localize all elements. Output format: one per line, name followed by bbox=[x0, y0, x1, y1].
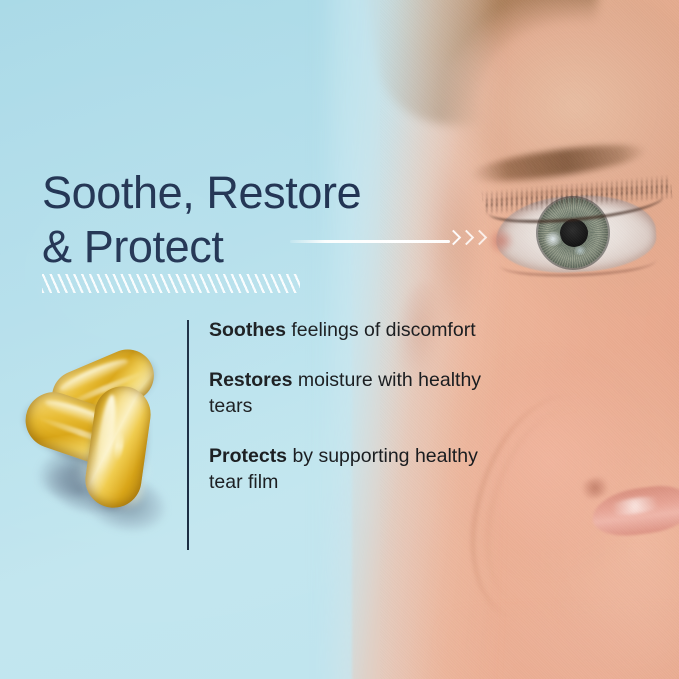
benefit-lead: Protects bbox=[209, 445, 287, 467]
list-item: Soothes feelings of discomfort bbox=[209, 318, 499, 344]
hair-strands bbox=[378, 0, 526, 74]
iris-fibers bbox=[538, 198, 608, 268]
eye-sclera bbox=[494, 192, 658, 276]
tear-duct bbox=[488, 228, 514, 254]
eyelid-crease bbox=[484, 184, 655, 220]
mouth-corner bbox=[576, 474, 614, 503]
product-benefit-ad: Soothe, Restore & Protect Soothes feelin… bbox=[0, 0, 679, 679]
eye-iris bbox=[538, 198, 608, 268]
list-item: Protects by supporting healthy tear film bbox=[209, 444, 499, 496]
upper-eyelashes bbox=[487, 182, 665, 227]
softgel-capsules-image bbox=[18, 358, 188, 558]
benefit-rest: feelings of discomfort bbox=[286, 319, 476, 341]
forehead bbox=[420, 0, 679, 190]
benefit-lead: Soothes bbox=[209, 319, 286, 341]
benefit-lead: Restores bbox=[209, 369, 292, 391]
neck bbox=[430, 618, 679, 679]
eyelash-fringe bbox=[481, 174, 673, 216]
lower-eyelashes bbox=[500, 247, 657, 278]
lip-highlight bbox=[603, 493, 667, 519]
list-item: Restores moisture with healthy tears bbox=[209, 368, 499, 420]
eyebrow-hairs bbox=[461, 135, 653, 188]
eye-catchlight bbox=[540, 229, 565, 249]
white-rule bbox=[290, 240, 450, 243]
chin bbox=[560, 552, 679, 679]
under-eye-lines bbox=[472, 258, 679, 368]
diagonal-hatch-decoration bbox=[42, 274, 300, 293]
chevron-right-icon bbox=[472, 230, 488, 246]
lips bbox=[590, 482, 679, 540]
chevron-group-icon bbox=[448, 232, 485, 243]
eye-catchlight-secondary bbox=[572, 246, 588, 255]
benefits-list: Soothes feelings of discomfort Restores … bbox=[209, 318, 499, 496]
page-title: Soothe, Restore & Protect bbox=[42, 166, 472, 275]
eye-pupil bbox=[560, 219, 588, 247]
eyebrow bbox=[467, 138, 649, 189]
hair bbox=[359, 0, 616, 137]
